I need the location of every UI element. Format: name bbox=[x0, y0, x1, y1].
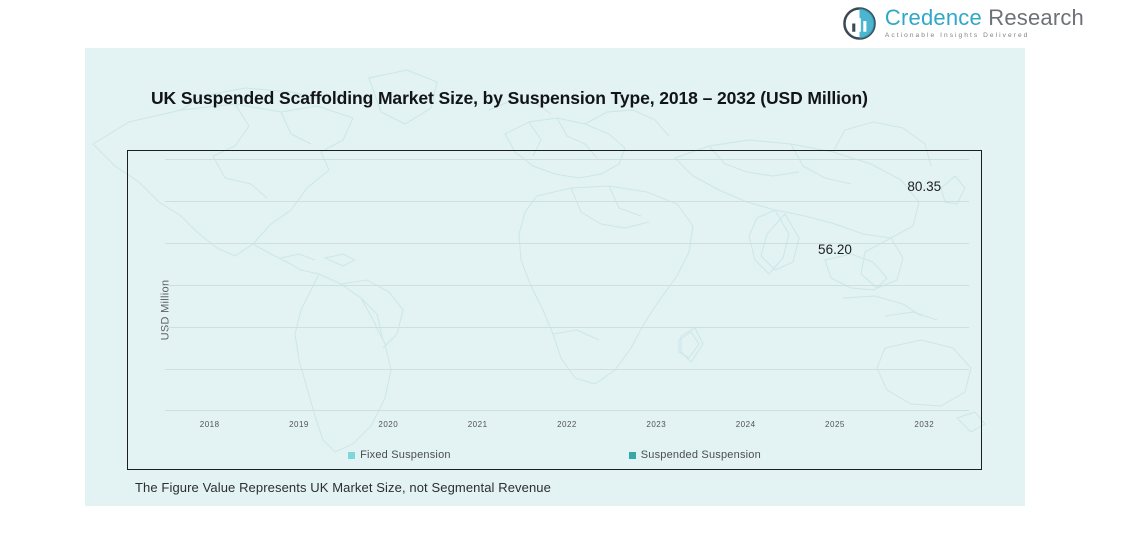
legend-item-fixed-suspension[interactable]: Fixed Suspension bbox=[348, 449, 451, 461]
x-axis-labels: 201820192020202120222023202420252032 bbox=[165, 415, 969, 433]
bar-chart-circle-icon bbox=[843, 7, 876, 40]
bar-group[interactable] bbox=[450, 159, 506, 411]
bar-group[interactable] bbox=[718, 159, 774, 411]
bar-series-container: 56.2080.35 bbox=[165, 159, 969, 411]
legend-swatch-icon bbox=[348, 452, 355, 459]
plot-area: 56.2080.35 bbox=[165, 159, 969, 411]
chart-title: UK Suspended Scaffolding Market Size, by… bbox=[151, 88, 868, 109]
legend-label: Suspended Suspension bbox=[641, 449, 761, 461]
x-axis-tick-label: 2018 bbox=[182, 420, 238, 429]
x-axis-tick-label: 2024 bbox=[718, 420, 774, 429]
brand-name-secondary: Research bbox=[988, 5, 1084, 30]
legend-swatch-icon bbox=[629, 452, 636, 459]
bar-value-label: 56.20 bbox=[818, 242, 852, 257]
chart-footnote: The Figure Value Represents UK Market Si… bbox=[135, 480, 551, 495]
chart-card: UK Suspended Scaffolding Market Size, by… bbox=[85, 48, 1025, 506]
brand-name-primary: Credence bbox=[885, 5, 982, 30]
x-axis-tick-label: 2025 bbox=[807, 420, 863, 429]
x-axis-tick-label: 2022 bbox=[539, 420, 595, 429]
legend-item-suspended-suspension[interactable]: Suspended Suspension bbox=[629, 449, 761, 461]
x-axis-tick-label: 2023 bbox=[628, 420, 684, 429]
bar-value-label: 80.35 bbox=[907, 179, 941, 194]
legend-label: Fixed Suspension bbox=[360, 449, 451, 461]
bar-group[interactable] bbox=[360, 159, 416, 411]
bar-group[interactable]: 56.20 bbox=[807, 159, 863, 411]
x-axis-tick-label: 2019 bbox=[271, 420, 327, 429]
bar-group[interactable] bbox=[628, 159, 684, 411]
x-axis-tick-label: 2020 bbox=[360, 420, 416, 429]
bar-group[interactable] bbox=[182, 159, 238, 411]
bar-group[interactable] bbox=[271, 159, 327, 411]
bar-group[interactable] bbox=[539, 159, 595, 411]
x-axis-tick-label: 2021 bbox=[450, 420, 506, 429]
plot-frame: USD Million 56.2080.35 20182019202020212… bbox=[127, 150, 982, 470]
brand-wordmark: Credence Research Actionable Insights De… bbox=[885, 7, 1084, 40]
brand-tagline: Actionable Insights Delivered bbox=[885, 33, 1084, 40]
bar-group[interactable]: 80.35 bbox=[896, 159, 952, 411]
chart-legend: Fixed Suspension Suspended Suspension bbox=[128, 449, 981, 461]
x-axis-tick-label: 2032 bbox=[896, 420, 952, 429]
brand-header: Credence Research Actionable Insights De… bbox=[843, 4, 1084, 42]
